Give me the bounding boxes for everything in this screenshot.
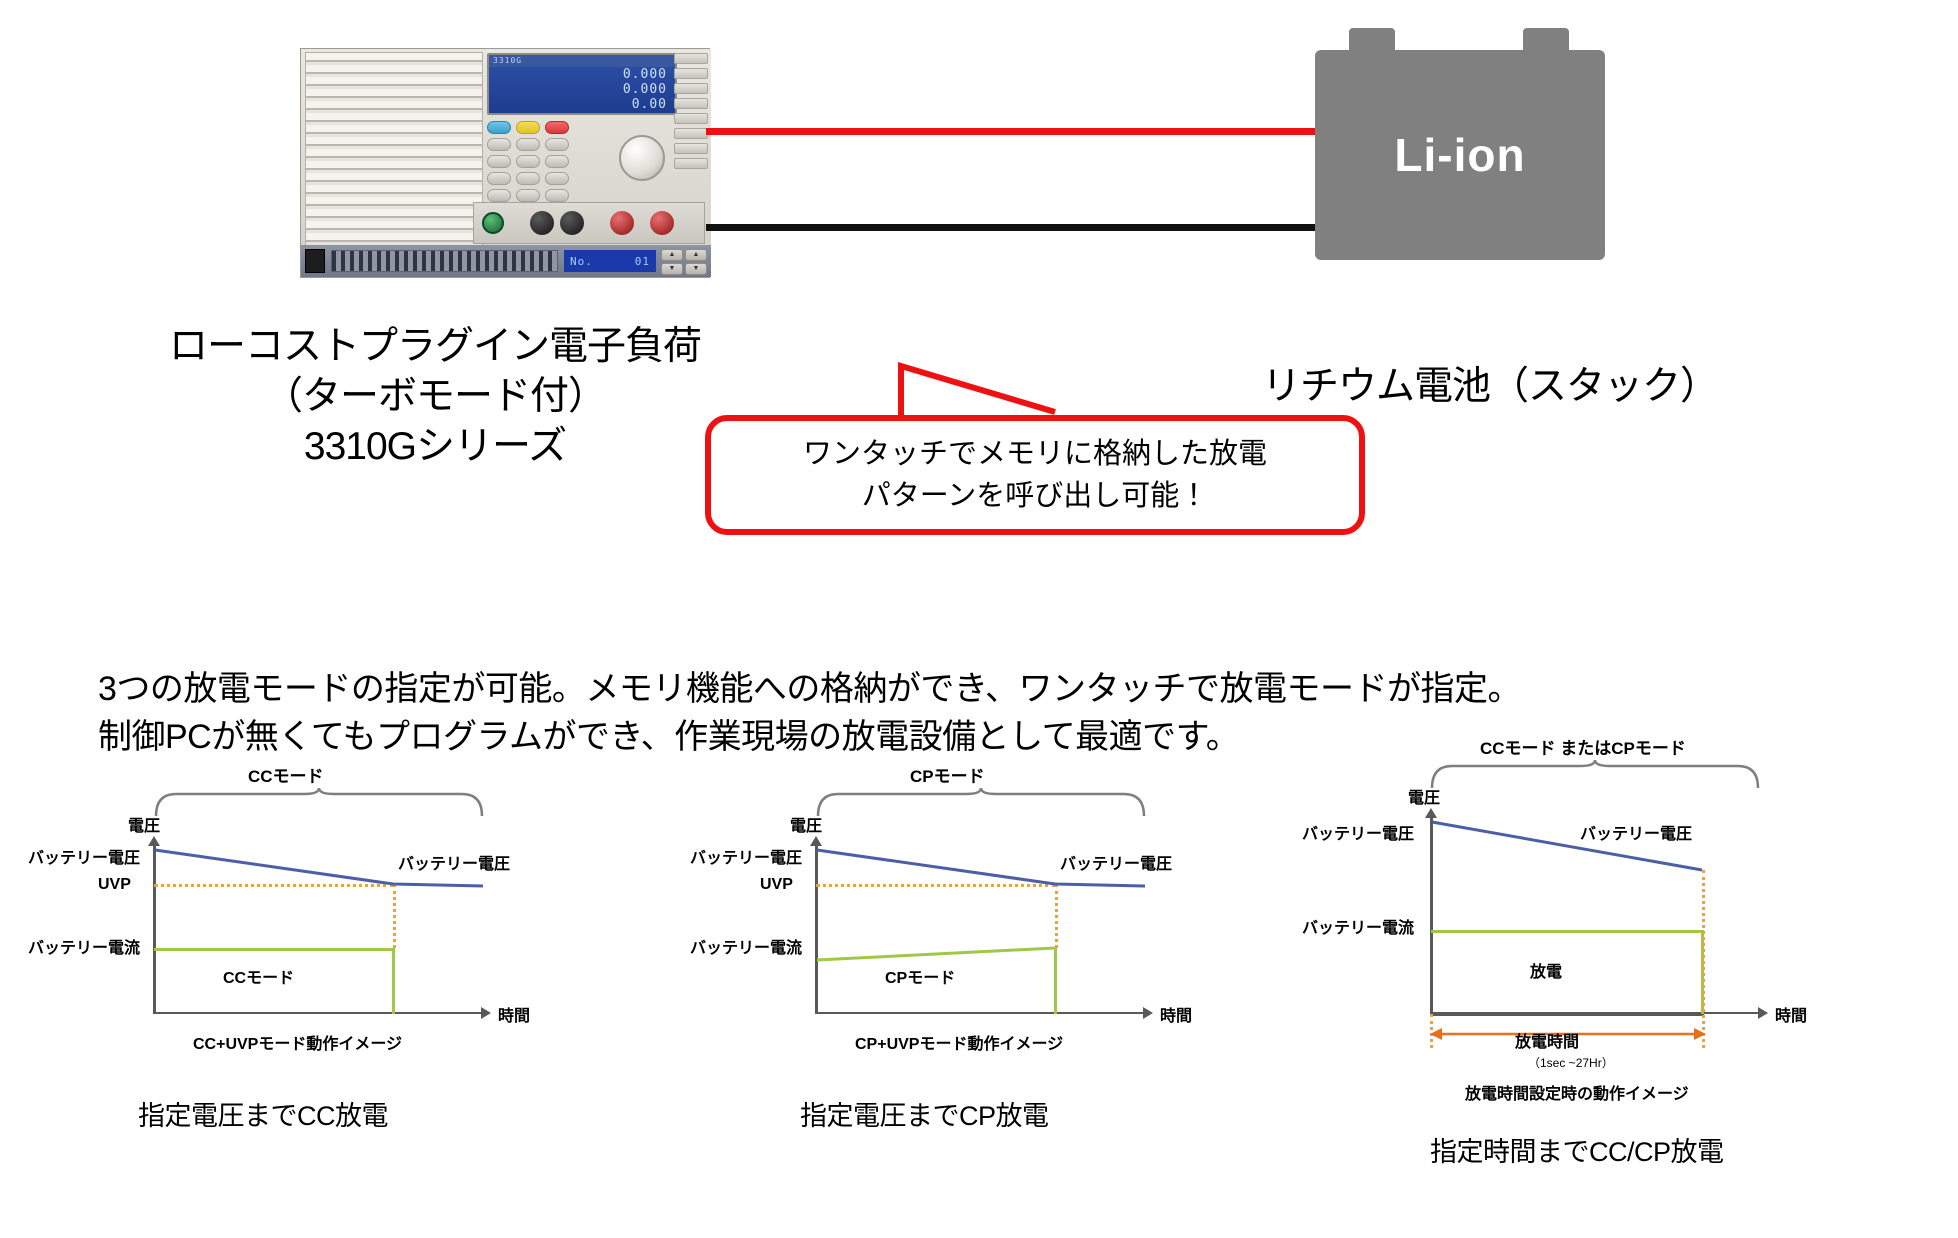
key-3[interactable] (545, 138, 569, 151)
battery-label: Li-ion (1315, 50, 1605, 260)
chart1-bottom-title: 指定電圧までCC放電 (138, 1094, 388, 1133)
key-dot[interactable] (516, 189, 540, 202)
chart1-left-label-uvp: UVP (98, 876, 131, 894)
chart1-current-line (154, 948, 394, 951)
chart1-left-label-current: バッテリー電流 (28, 934, 140, 958)
function-key-5[interactable] (674, 113, 708, 124)
chart3-y-arrow-icon (1425, 808, 1437, 818)
chart3-caption: 放電時間設定時の動作イメージ (1465, 1080, 1689, 1104)
chart2-current-dropoff (1054, 948, 1057, 1014)
keypad-row-1[interactable] (487, 138, 637, 151)
key-1[interactable] (487, 138, 511, 151)
callout-line2: パターンを呼び出し可能！ (862, 475, 1209, 517)
terminal-strip (473, 202, 705, 244)
chart1-inner-mode-label: CCモード (223, 964, 294, 988)
chart3-discharge-time-label: 放電時間 (1515, 1028, 1579, 1052)
key-9[interactable] (545, 172, 569, 185)
ground-terminal[interactable] (482, 212, 504, 234)
chart-cp-uvp: CPモード 電圧 時間 バッテリー電圧 UVP バッテリー電流 バッテリー電圧 … (680, 762, 1310, 1092)
key-0[interactable] (487, 189, 511, 202)
memory-number-display: No. 01 (564, 250, 656, 272)
chart2-brace-label: CPモード (910, 762, 985, 787)
right-function-keys[interactable] (674, 53, 708, 173)
chart1-voltage-curve (153, 846, 485, 1016)
chart1-brace-label: CCモード (248, 762, 324, 787)
chart3-xlabel: 時間 (1775, 1002, 1807, 1026)
chart2-inner-mode-label: CPモード (885, 964, 955, 988)
lcd-row-3: 0.00 (489, 97, 675, 112)
negative-wire (706, 224, 1318, 231)
sense-negative-terminal[interactable] (530, 211, 554, 235)
chart2-y-arrow-icon (810, 836, 822, 846)
chart1-left-label-voltage: バッテリー電圧 (28, 844, 140, 868)
arrow-keypad[interactable]: ▲ ▲ ▼ ▼ (661, 249, 707, 273)
chart2-brace-icon (816, 788, 1146, 818)
chart3-brace-icon (1430, 760, 1760, 790)
chart-cc-uvp: CCモード 電圧 時間 バッテリー電圧 UVP バッテリー電流 バッテリー電圧 … (18, 762, 648, 1092)
chart2-left-label-current: バッテリー電流 (690, 934, 802, 958)
chart1-current-dropoff (392, 948, 395, 1014)
input-positive-terminal-2[interactable] (650, 211, 674, 235)
keypad-row-2[interactable] (487, 155, 637, 168)
arrow-down-left-icon[interactable]: ▼ (661, 263, 683, 275)
chart3-inner-mode-label: 放電 (1530, 958, 1562, 982)
battery-caption: リチウム電池（スタック） (1230, 355, 1750, 411)
chart3-x-arrow-icon (1758, 1007, 1768, 1019)
chart3-left-label-voltage: バッテリー電圧 (1302, 820, 1414, 844)
chart2-ylabel: 電圧 (790, 812, 822, 836)
feature-callout-bubble: ワンタッチでメモリに格納した放電 パターンを呼び出し可能！ (705, 415, 1365, 535)
key-6[interactable] (545, 155, 569, 168)
function-key-3[interactable] (674, 83, 708, 94)
keypad[interactable] (487, 121, 637, 206)
chart3-time-range-note: （1sec ~27Hr） (1528, 1054, 1614, 1071)
instrument-front-panel: 3310G 0.000 0.000 0.00 (301, 49, 711, 247)
chart3-left-label-current: バッテリー電流 (1302, 914, 1414, 938)
power-switch[interactable] (305, 249, 325, 273)
chart1-y-arrow-icon (148, 836, 160, 846)
function-key-6[interactable] (674, 128, 708, 139)
key-5[interactable] (516, 155, 540, 168)
base-grille (331, 250, 558, 272)
chart2-xlabel: 時間 (1160, 1002, 1192, 1026)
rotary-knob[interactable] (619, 135, 665, 181)
ventilation-grille (305, 52, 483, 250)
arrow-up-left-icon[interactable]: ▲ (661, 249, 683, 261)
key-blue[interactable] (487, 121, 511, 134)
arrow-down-right-icon[interactable]: ▼ (685, 263, 707, 275)
electronic-load-instrument-image: 3310G 0.000 0.000 0.00 (300, 48, 710, 278)
key-red[interactable] (545, 121, 569, 134)
key-7[interactable] (487, 172, 511, 185)
positive-wire (706, 128, 1318, 135)
key-yellow[interactable] (516, 121, 540, 134)
sense-positive-terminal[interactable] (560, 211, 584, 235)
keypad-row-colored[interactable] (487, 121, 637, 134)
input-positive-terminal-1[interactable] (610, 211, 634, 235)
chart1-caption: CC+UVPモード動作イメージ (193, 1030, 402, 1054)
chart1-xlabel: 時間 (498, 1002, 530, 1026)
chart2-caption: CP+UVPモード動作イメージ (855, 1030, 1063, 1054)
lcd-row-2: 0.000 (489, 82, 675, 97)
function-key-2[interactable] (674, 68, 708, 79)
chart2-left-label-voltage: バッテリー電圧 (690, 844, 802, 868)
memory-value: 01 (635, 255, 650, 268)
instrument-caption-line1: ローコストプラグイン電子負荷 (155, 322, 715, 372)
chart1-brace-icon (154, 788, 484, 818)
lcd-model-label: 3310G (489, 55, 675, 67)
instrument-caption-line3: 3310Gシリーズ (155, 422, 715, 472)
description-line1: 3つの放電モードの指定が可能。メモリ機能への格納ができ、ワンタッチで放電モードが… (98, 665, 1898, 713)
function-key-8[interactable] (674, 158, 708, 169)
chart1-ylabel: 電圧 (128, 812, 160, 836)
chart2-bottom-title: 指定電圧までCP放電 (800, 1094, 1049, 1133)
arrow-up-right-icon[interactable]: ▲ (685, 249, 707, 261)
key-4[interactable] (487, 155, 511, 168)
key-enter[interactable] (545, 189, 569, 202)
chart3-time-end-marker (1702, 870, 1705, 1048)
memory-label: No. (570, 255, 593, 268)
lithium-battery-graphic: Li-ion (1315, 28, 1605, 260)
chart3-brace-label: CCモード またはCPモード (1480, 734, 1686, 759)
callout-line1: ワンタッチでメモリに格納した放電 (803, 433, 1267, 475)
function-key-4[interactable] (674, 98, 708, 109)
key-2[interactable] (516, 138, 540, 151)
lcd-row-1: 0.000 (489, 67, 675, 82)
function-key-1[interactable] (674, 53, 708, 64)
instrument-lcd-display: 3310G 0.000 0.000 0.00 (487, 53, 677, 115)
chart2-left-label-uvp: UVP (760, 876, 793, 894)
function-key-7[interactable] (674, 143, 708, 154)
keypad-row-4[interactable] (487, 189, 637, 202)
chart3-ylabel: 電圧 (1408, 784, 1440, 808)
chart3-bottom-title: 指定時間までCC/CP放電 (1430, 1130, 1724, 1169)
instrument-caption-line2: （ターボモード付） (155, 372, 715, 422)
chart-cc-cp-time: CCモード またはCPモード 電圧 時間 バッテリー電圧 バッテリー電流 バッテ… (1330, 762, 1950, 1092)
chart2-current-curve (815, 912, 1065, 1012)
instrument-caption: ローコストプラグイン電子負荷 （ターボモード付） 3310Gシリーズ (155, 322, 715, 472)
keypad-row-3[interactable] (487, 172, 637, 185)
chart3-discharge-region (1430, 930, 1704, 1016)
mainframe-base: No. 01 ▲ ▲ ▼ ▼ (301, 245, 711, 277)
key-8[interactable] (516, 172, 540, 185)
